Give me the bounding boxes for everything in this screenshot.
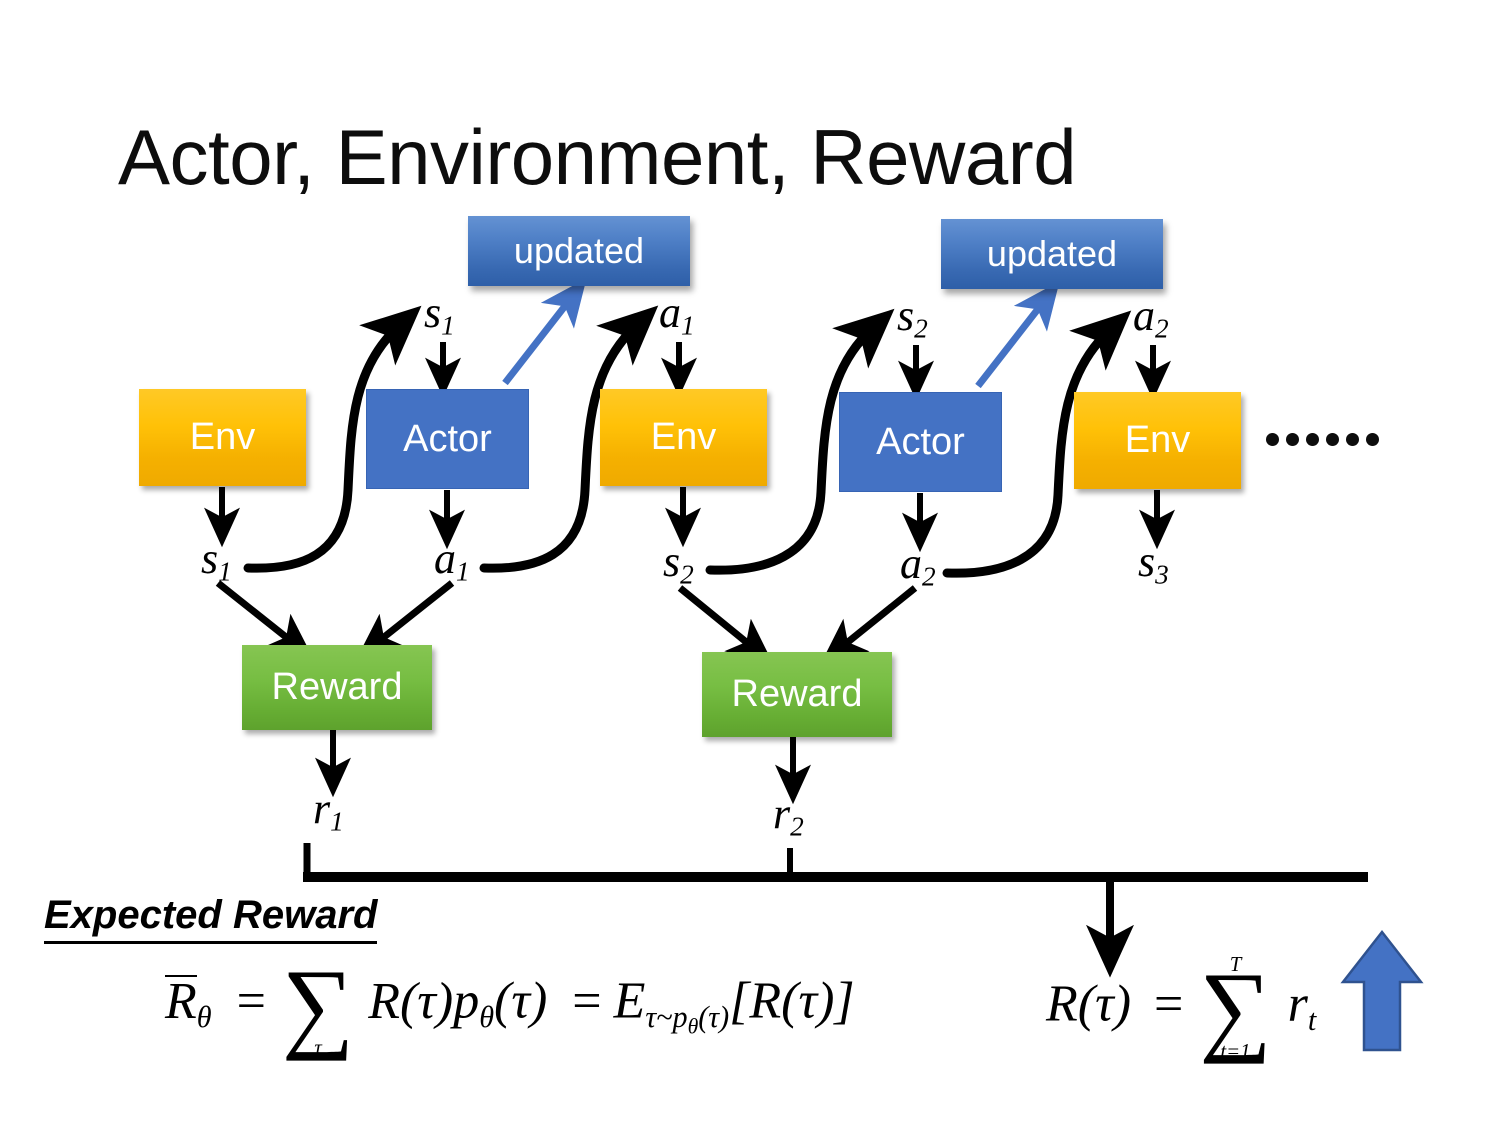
label-r1: r1	[313, 787, 344, 836]
sum-index-tau: τ	[282, 1038, 354, 1059]
formula-equals-1: =	[237, 973, 266, 1030]
updated-box-1[interactable]: updated	[468, 216, 690, 286]
label-a1-bottom: a1	[434, 537, 470, 586]
label-s1-bottom: s1	[201, 537, 232, 586]
env-box-3-label: Env	[1125, 419, 1190, 462]
ellipsis-icon	[1266, 433, 1379, 446]
label-a1-top: a1	[659, 291, 695, 340]
formula-sum-tau: ∑τ	[282, 965, 354, 1047]
total-reward-formula: R(τ) =∑Tt=1rt	[1046, 968, 1316, 1050]
formula-p-arg: (τ)	[494, 973, 547, 1030]
formula-Rbar: R	[165, 975, 197, 1026]
label-a2-top: a2	[1133, 294, 1169, 343]
label-a2-bottom: a2	[900, 542, 936, 591]
label-s2-top: s2	[897, 294, 928, 343]
formula-equals-2: =	[572, 973, 601, 1030]
formula-E: E	[614, 973, 646, 1030]
actor-box-1-label: Actor	[403, 418, 492, 461]
total-sum-lower-limit: t=1	[1199, 1042, 1271, 1063]
label-s1-top: s1	[424, 291, 455, 340]
reward-box-1-label: Reward	[272, 666, 403, 709]
reward-box-1[interactable]: Reward	[242, 645, 432, 730]
sum-glyph: ∑	[282, 965, 354, 1046]
total-equals: =	[1154, 976, 1183, 1033]
updated-box-2-label: updated	[987, 233, 1117, 275]
actor-box-2-label: Actor	[876, 421, 965, 464]
expected-reward-heading: Expected Reward	[44, 893, 377, 944]
formula-p-sub-theta: θ	[479, 1000, 494, 1034]
label-r2: r2	[773, 792, 804, 841]
total-sum-glyph: ∑	[1199, 968, 1271, 1049]
expected-reward-formula: Rθ =∑τR(τ)pθ(τ) =Eτ~pθ(τ)[R(τ)]	[165, 965, 855, 1047]
actor-box-1[interactable]: Actor	[366, 389, 529, 489]
formula-p: p	[453, 973, 479, 1030]
env-box-1[interactable]: Env	[139, 389, 306, 486]
env-box-2-label: Env	[651, 416, 716, 459]
total-sum-upper-limit: T	[1199, 955, 1271, 976]
formula-R-tau: R(τ)	[368, 973, 453, 1030]
formula-E-sub: τ~pθ(τ)	[645, 1000, 729, 1034]
env-box-3[interactable]: Env	[1074, 392, 1241, 489]
maximize-up-arrow	[1343, 932, 1421, 1050]
actor-box-2[interactable]: Actor	[839, 392, 1002, 492]
total-term: r	[1288, 976, 1308, 1033]
total-R: R	[1046, 976, 1078, 1033]
formula-bracket-R-tau: [R(τ)]	[729, 973, 854, 1030]
reward-box-2[interactable]: Reward	[702, 652, 892, 737]
env-box-1-label: Env	[190, 416, 255, 459]
env-box-2[interactable]: Env	[600, 389, 767, 486]
updated-box-1-label: updated	[514, 230, 644, 272]
label-s2-bottom: s2	[663, 540, 694, 589]
label-s3-bottom: s3	[1138, 540, 1169, 589]
slide-canvas: Actor, Environment, Reward	[0, 0, 1500, 1125]
reward-box-2-label: Reward	[732, 673, 863, 716]
total-term-sub: t	[1308, 1003, 1316, 1037]
formula-Rbar-sub: θ	[197, 1000, 212, 1034]
total-sum: ∑Tt=1	[1199, 968, 1271, 1050]
updated-box-2[interactable]: updated	[941, 219, 1163, 289]
total-R-arg: (τ)	[1078, 976, 1131, 1033]
